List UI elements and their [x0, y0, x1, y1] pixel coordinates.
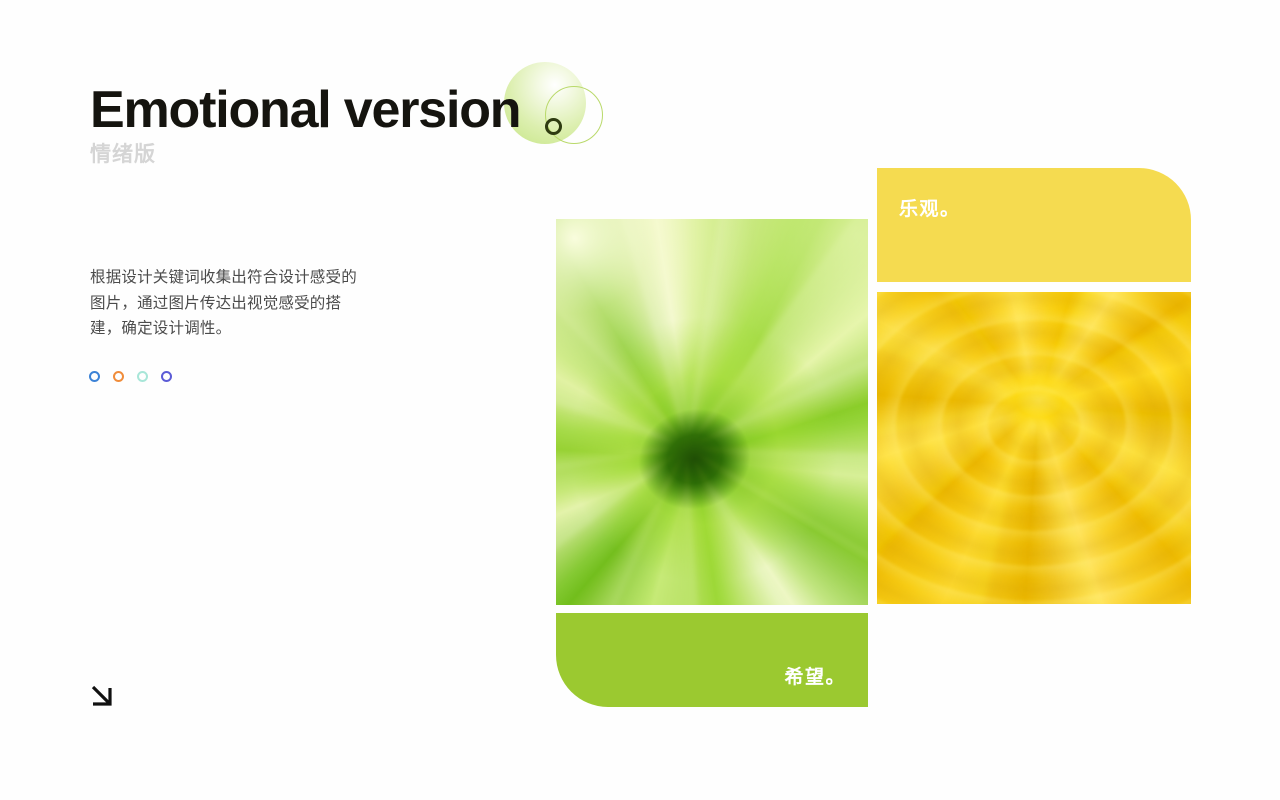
header-block: Emotional version 情绪版 [90, 62, 630, 182]
hope-card-label: 希望。 [784, 668, 846, 687]
outline-circle-decoration-icon [545, 86, 603, 144]
hope-card[interactable]: 希望。 [556, 613, 868, 707]
page-subtitle: 情绪版 [90, 144, 156, 165]
yellow-swirl-image[interactable] [877, 292, 1191, 604]
green-swirl-glow [556, 219, 868, 605]
arrow-down-right-icon[interactable] [86, 680, 118, 712]
green-swirl-image[interactable] [556, 219, 868, 605]
page-title: Emotional version [90, 84, 520, 136]
period-ring-icon [545, 118, 562, 135]
page-root: Emotional version 情绪版 根据设计关键词收集出符合设计感受的图… [0, 0, 1280, 800]
swatch-orange[interactable] [113, 371, 124, 382]
swatch-mint[interactable] [137, 371, 148, 382]
yellow-swirl-highlights [877, 292, 1191, 604]
intro-paragraph: 根据设计关键词收集出符合设计感受的图片，通过图片传达出视觉感受的搭建，确定设计调… [90, 265, 372, 342]
swatch-blue[interactable] [89, 371, 100, 382]
swatch-indigo[interactable] [161, 371, 172, 382]
optimism-card-label: 乐观。 [899, 200, 961, 219]
swatch-row [89, 371, 172, 382]
optimism-card[interactable]: 乐观。 [877, 168, 1191, 282]
